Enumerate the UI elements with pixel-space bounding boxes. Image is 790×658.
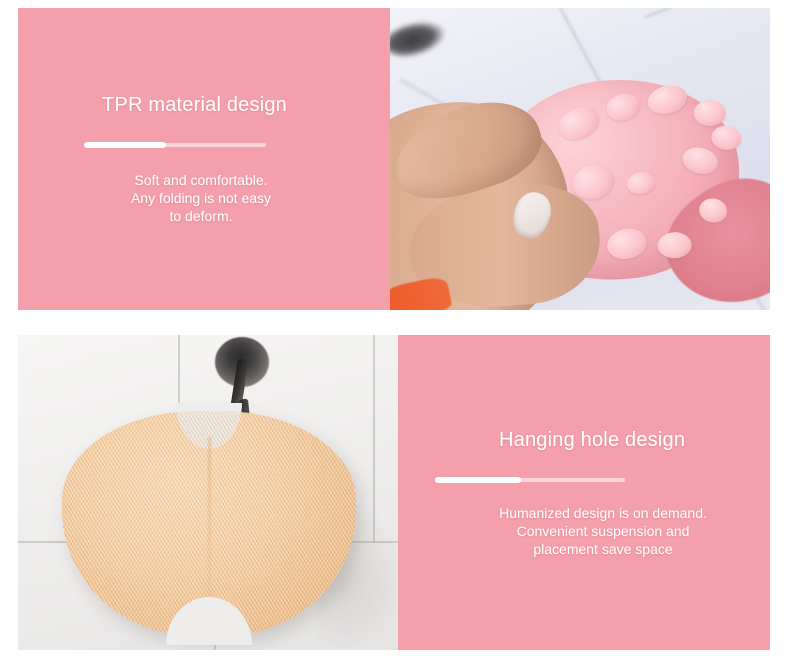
copy-panel-tpr-material: TPR material design Soft and comfortable… <box>18 8 390 310</box>
divider-rule-tpr-material <box>84 143 266 147</box>
brush-center-seam <box>208 437 211 617</box>
body-line: Convenient suspension and <box>443 522 763 540</box>
body-line: Soft and comfortable. <box>94 171 308 189</box>
brush-nub <box>680 144 721 178</box>
heading-hanging-hole: Hanging hole design <box>499 428 770 452</box>
body-copy-hanging-hole: Humanized design is on demand. Convenien… <box>443 504 763 558</box>
body-line: Humanized design is on demand. <box>443 504 763 522</box>
tan-silicone-brush <box>62 411 356 635</box>
brush-nub <box>604 225 649 263</box>
product-feature-banner: TPR material design Soft and comfortable… <box>0 0 790 658</box>
brush-nub <box>694 100 726 126</box>
photo-brush-on-suction-hook <box>18 335 398 650</box>
copy-panel-hanging-hole: Hanging hole design Humanized design is … <box>398 335 770 650</box>
feature-row-hanging-hole: Hanging hole design Humanized design is … <box>18 335 770 650</box>
body-line: placement save space <box>443 540 763 558</box>
heading-tpr-material: TPR material design <box>102 93 390 117</box>
body-line: Any folding is not easy <box>94 189 308 207</box>
divider-rule-hanging-hole <box>435 478 625 482</box>
brush-nub <box>553 101 604 146</box>
body-line: to deform. <box>94 207 308 225</box>
brush-nub <box>603 89 644 125</box>
feature-row-tpr-material: TPR material design Soft and comfortable… <box>18 8 770 310</box>
photo-hand-squeezing-pink-brush <box>390 8 770 310</box>
body-copy-tpr-material: Soft and comfortable. Any folding is not… <box>94 171 308 225</box>
brush-nub <box>625 170 656 197</box>
